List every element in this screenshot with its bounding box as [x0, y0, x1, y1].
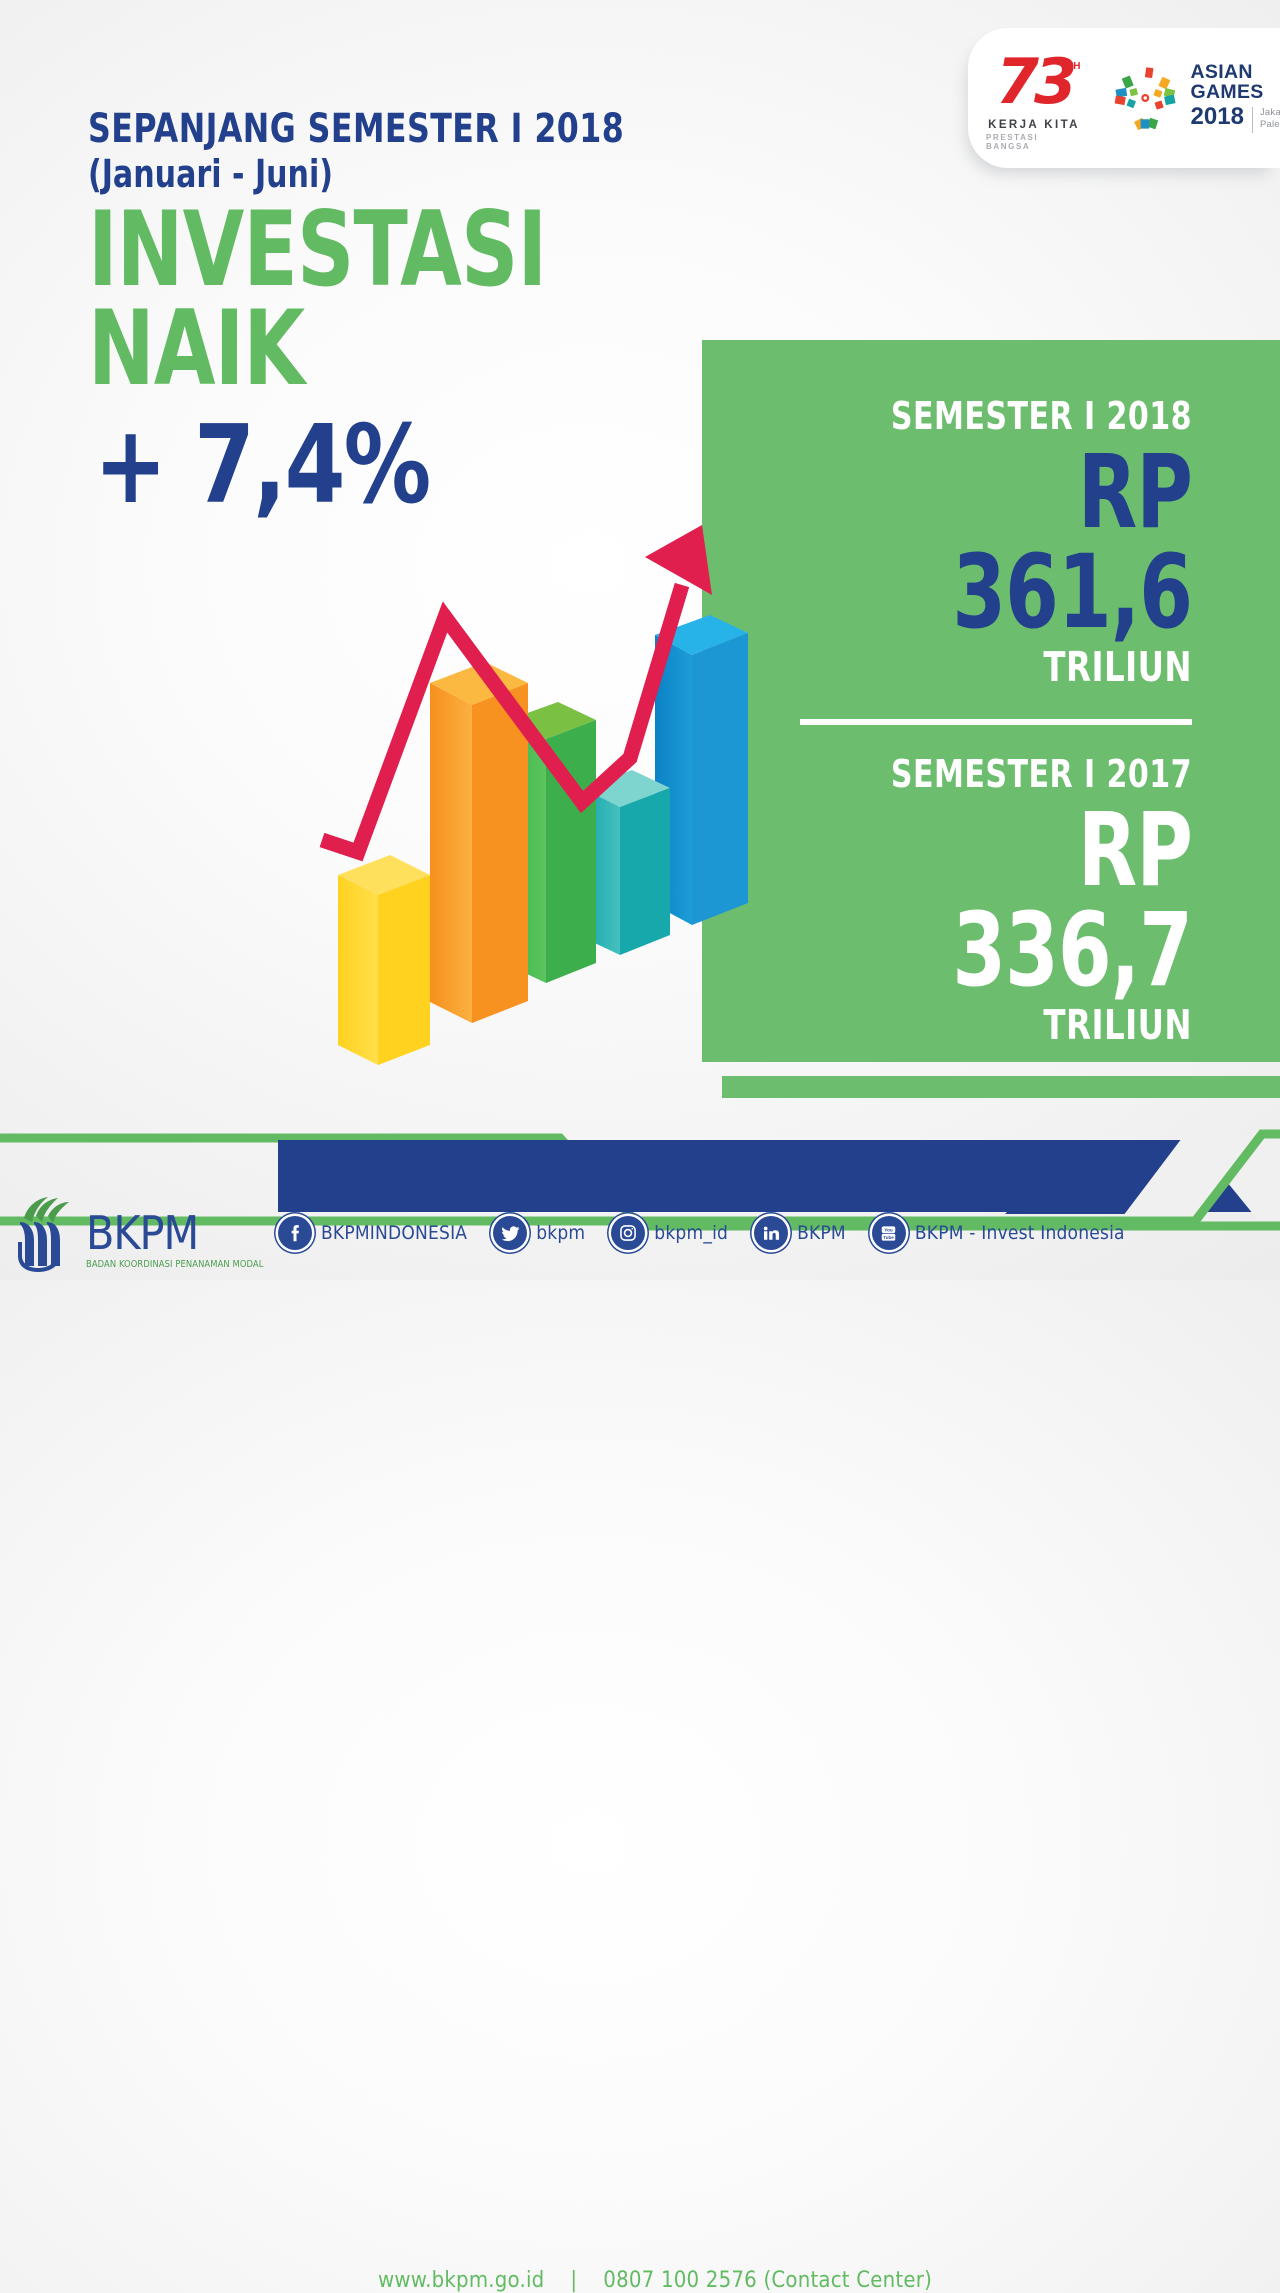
asian-games-city-1: Jakarta [1260, 107, 1280, 118]
bar-chart-svg [300, 505, 770, 1115]
hut-tagline-2: PRESTASI BANGSA [986, 133, 1082, 151]
figure-label-2017: SEMESTER I 2017 [796, 753, 1192, 795]
hut-number: 73 [986, 45, 1082, 119]
bkpm-logo-name: BKPM [86, 1210, 269, 1256]
hut-ri-73-logo: 73 TH KERJA KITA PRESTASI BANGSA [986, 45, 1082, 151]
asian-games-title: ASIAN GAMES [1191, 63, 1280, 102]
svg-text:Tube: Tube [884, 1235, 895, 1240]
youtube-icon[interactable]: You Tube [872, 1216, 906, 1250]
headline-period: SEPANJANG SEMESTER I 2018 [88, 108, 634, 150]
asian-games-year: 2018 [1191, 105, 1244, 129]
investment-bar-chart [300, 505, 770, 1115]
bkpm-logo-subtitle: BADAN KOORDINASI PENANAMAN MODAL [86, 1259, 263, 1270]
figure-label-2018: SEMESTER I 2018 [796, 395, 1192, 437]
social-instagram[interactable]: bkpm_id [611, 1216, 728, 1250]
contact-separator: | [570, 2268, 577, 2293]
social-links: BKPMINDONESIA bkpm bkpm_id BKPM You [278, 1216, 1125, 1250]
partner-logo-badge: 73 TH KERJA KITA PRESTASI BANGSA [968, 28, 1280, 168]
bkpm-mark-icon [14, 1196, 78, 1274]
hut-th-suffix: TH [1067, 61, 1081, 72]
svg-text:You: You [885, 1227, 894, 1232]
contact-bar: www.bkpm.go.id | 0807 100 2576 (Contact … [0, 2268, 1280, 2293]
bkpm-logo: BKPM BADAN KOORDINASI PENANAMAN MODAL [14, 1196, 269, 1274]
social-youtube[interactable]: You Tube BKPM - Invest Indonesia [872, 1216, 1125, 1250]
figure-unit-2018: TRILIUN [796, 645, 1192, 689]
linkedin-icon[interactable] [754, 1216, 788, 1250]
social-twitter-label[interactable]: bkpm [536, 1222, 585, 1244]
asian-games-emblem-icon [1112, 61, 1179, 135]
social-linkedin[interactable]: BKPM [754, 1216, 846, 1250]
hut-73-mark-icon: 73 TH [986, 45, 1082, 123]
social-youtube-label[interactable]: BKPM - Invest Indonesia [915, 1222, 1125, 1244]
figures-divider [800, 719, 1192, 725]
social-instagram-label[interactable]: bkpm_id [654, 1222, 728, 1244]
figure-value-2017: RP 336,7 [814, 801, 1192, 1001]
asian-games-logo: ASIAN GAMES 2018 Jakarta Palembang [1112, 61, 1280, 135]
contact-center-number: 0807 100 2576 (Contact Center) [603, 2268, 932, 2293]
figure-value-2018: RP 361,6 [814, 443, 1192, 643]
headline-block: SEPANJANG SEMESTER I 2018 (Januari - Jun… [88, 108, 708, 522]
figures-panel: SEMESTER I 2018 RP 361,6 TRILIUN SEMESTE… [702, 340, 1280, 1062]
bar-1-yellow [338, 855, 430, 1065]
facebook-icon[interactable] [278, 1216, 312, 1250]
social-facebook-label[interactable]: BKPMINDONESIA [321, 1222, 467, 1244]
figure-unit-2017: TRILIUN [796, 1003, 1192, 1047]
headline-main-1: INVESTASI [88, 204, 621, 297]
figure-block-2017: SEMESTER I 2017 RP 336,7 TRILIUN [742, 753, 1192, 1047]
website-link[interactable]: www.bkpm.go.id [378, 2268, 544, 2293]
green-accent-strip [722, 1076, 1280, 1098]
social-facebook[interactable]: BKPMINDONESIA [278, 1216, 467, 1250]
social-twitter[interactable]: bkpm [493, 1216, 585, 1250]
headline-main-2: NAIK [88, 303, 621, 396]
asian-games-text-divider [1252, 107, 1253, 133]
instagram-icon[interactable] [611, 1216, 645, 1250]
figure-block-2018: SEMESTER I 2018 RP 361,6 TRILIUN [742, 395, 1192, 689]
asian-games-city-2: Palembang [1260, 119, 1280, 130]
twitter-icon[interactable] [493, 1216, 527, 1250]
social-linkedin-label[interactable]: BKPM [797, 1222, 846, 1244]
